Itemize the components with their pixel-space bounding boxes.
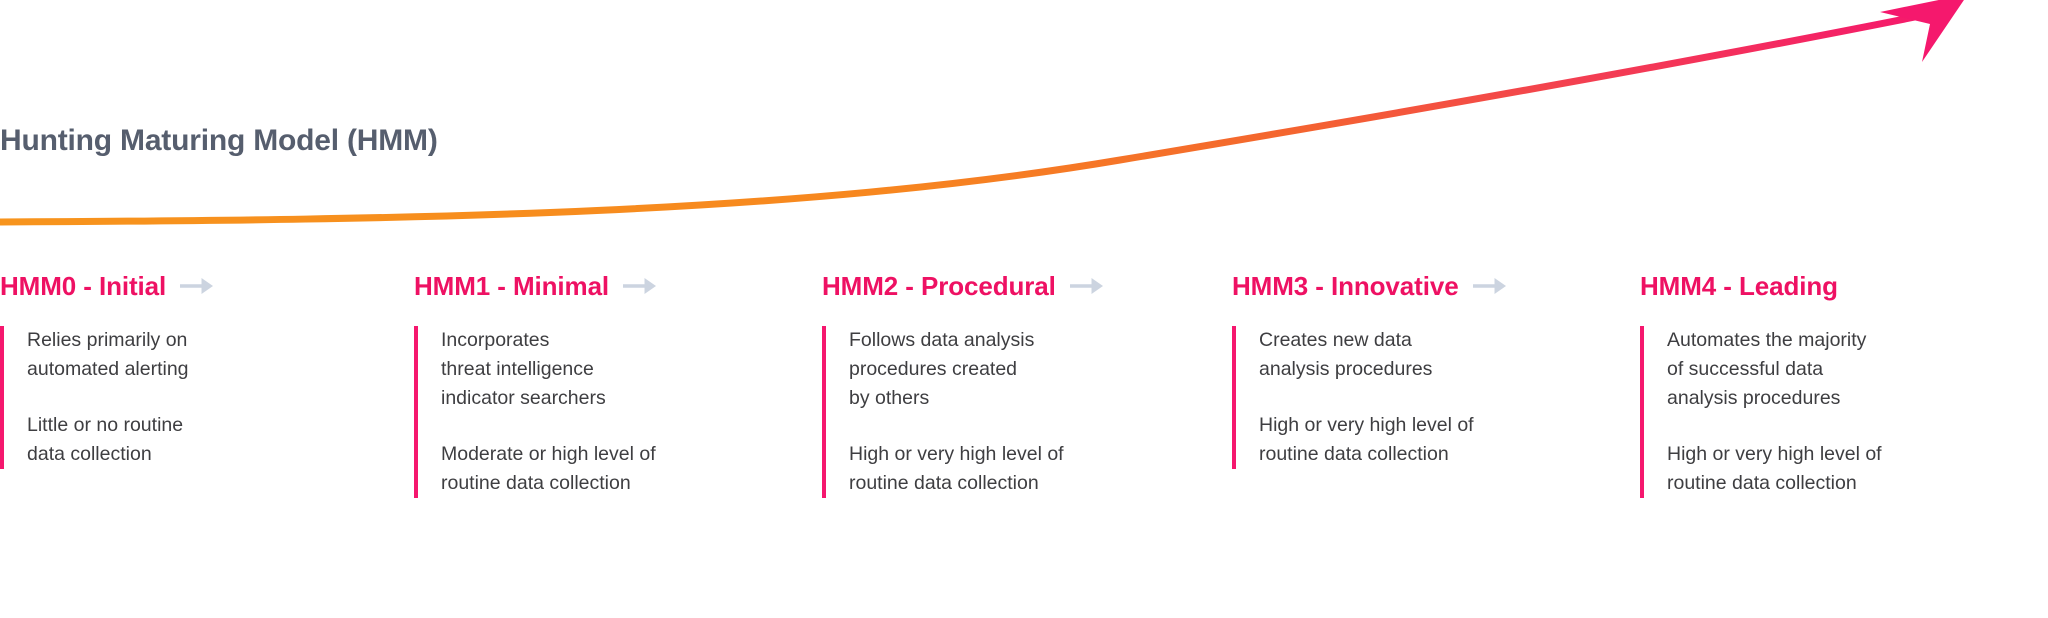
stage-column-4: HMM4 - LeadingAutomates the majority of … [1640, 268, 1882, 498]
stage-heading-row-4: HMM4 - Leading [1640, 268, 1882, 304]
stage-heading-row-1: HMM1 - Minimal [414, 268, 657, 304]
stage-title-0[interactable]: HMM0 - Initial [0, 271, 166, 302]
stage-point: Little or no routine data collection [27, 411, 189, 469]
stage-title-2[interactable]: HMM2 - Procedural [822, 271, 1056, 302]
stage-point: Automates the majority of successful dat… [1667, 326, 1882, 413]
stage-accent-bar [414, 326, 418, 498]
stage-body-0: Relies primarily on automated alertingLi… [0, 326, 214, 469]
stage-point: High or very high level of routine data … [1259, 411, 1474, 469]
stage-point: High or very high level of routine data … [849, 440, 1064, 498]
stage-title-3[interactable]: HMM3 - Innovative [1232, 271, 1459, 302]
stage-heading-row-0: HMM0 - Initial [0, 268, 214, 304]
stages-container: HMM0 - InitialRelies primarily on automa… [0, 268, 2048, 528]
stage-points-list-0: Relies primarily on automated alertingLi… [27, 326, 189, 469]
arrow-right-icon [623, 277, 657, 295]
stage-points-list-2: Follows data analysis procedures created… [849, 326, 1064, 498]
arrow-right-icon [180, 277, 214, 295]
stage-column-1: HMM1 - MinimalIncorporates threat intell… [414, 268, 657, 498]
stage-body-4: Automates the majority of successful dat… [1640, 326, 1882, 498]
stage-points-list-4: Automates the majority of successful dat… [1667, 326, 1882, 498]
stage-heading-row-3: HMM3 - Innovative [1232, 268, 1507, 304]
stage-accent-bar [1640, 326, 1644, 498]
stage-point: Follows data analysis procedures created… [849, 326, 1064, 413]
stage-point: Relies primarily on automated alerting [27, 326, 189, 384]
stage-points-list-3: Creates new data analysis proceduresHigh… [1259, 326, 1474, 469]
arrow-right-icon [1070, 277, 1104, 295]
stage-body-3: Creates new data analysis proceduresHigh… [1232, 326, 1507, 469]
stage-body-2: Follows data analysis procedures created… [822, 326, 1104, 498]
stage-accent-bar [1232, 326, 1236, 469]
stage-point: Creates new data analysis procedures [1259, 326, 1474, 384]
stage-title-4[interactable]: HMM4 - Leading [1640, 271, 1838, 302]
stage-accent-bar [822, 326, 826, 498]
stage-column-0: HMM0 - InitialRelies primarily on automa… [0, 268, 214, 469]
stage-column-3: HMM3 - InnovativeCreates new data analys… [1232, 268, 1507, 469]
stage-column-2: HMM2 - ProceduralFollows data analysis p… [822, 268, 1104, 498]
stage-body-1: Incorporates threat intelligence indicat… [414, 326, 657, 498]
stage-point: Incorporates threat intelligence indicat… [441, 326, 656, 413]
stage-heading-row-2: HMM2 - Procedural [822, 268, 1104, 304]
stage-point: Moderate or high level of routine data c… [441, 440, 656, 498]
stage-accent-bar [0, 326, 4, 469]
stage-title-1[interactable]: HMM1 - Minimal [414, 271, 609, 302]
arrow-right-icon [1473, 277, 1507, 295]
stage-points-list-1: Incorporates threat intelligence indicat… [441, 326, 656, 498]
page-title: Hunting Maturing Model (HMM) [0, 124, 438, 158]
stage-point: High or very high level of routine data … [1667, 440, 1882, 498]
